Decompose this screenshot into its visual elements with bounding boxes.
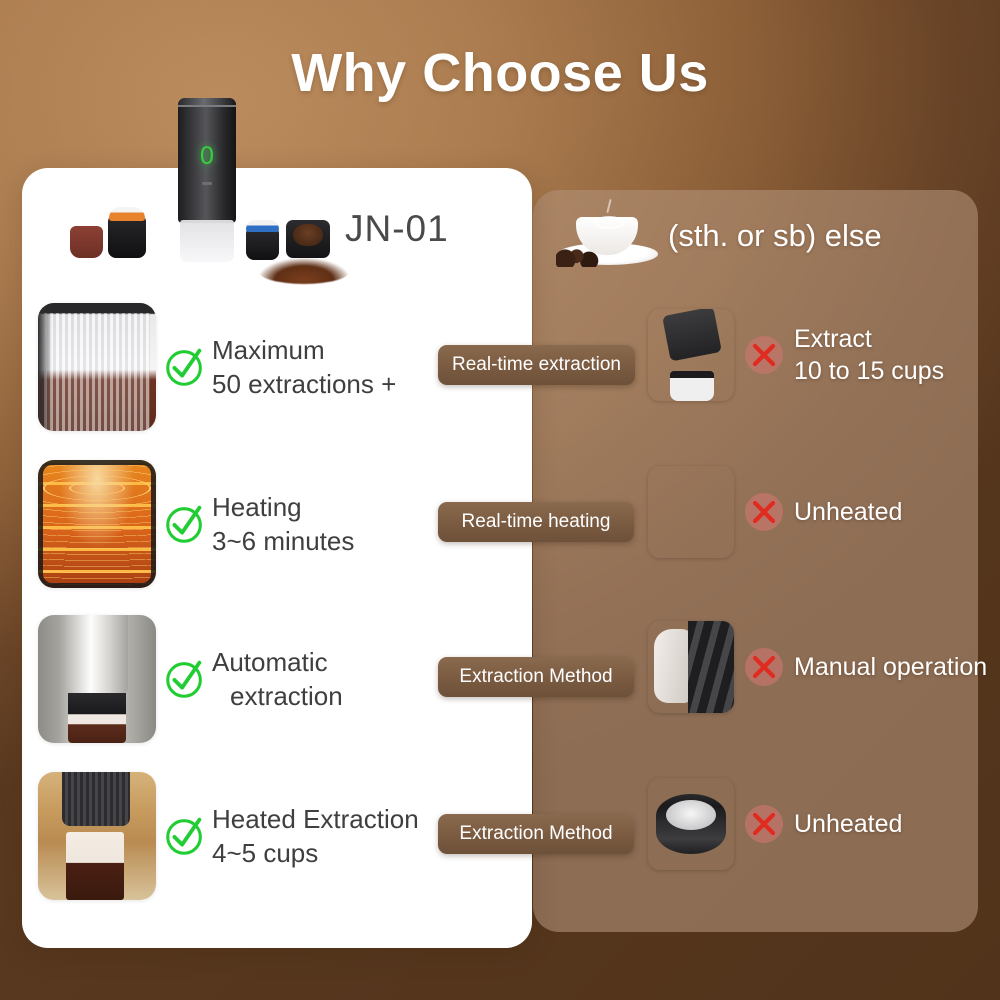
right-feature-text: Unheated: [794, 808, 902, 841]
right-feature-thumbnail: [648, 778, 734, 870]
left-feature-text: Heated Extraction 4~5 cups: [212, 802, 419, 871]
feature-badge: Extraction Method: [438, 814, 634, 854]
page-title: Why Choose Us: [0, 42, 1000, 104]
red-cross-icon: [744, 647, 784, 687]
left-feature-line2: extraction: [212, 679, 343, 713]
right-feature-line1: Unheated: [794, 810, 902, 838]
right-feature-text: Manual operation: [794, 651, 987, 684]
left-feature-text: Heating 3~6 minutes: [212, 490, 354, 559]
feature-badge: Extraction Method: [438, 657, 634, 697]
right-feature-thumbnail: [648, 309, 734, 401]
right-feature-thumbnail: [648, 621, 734, 713]
right-feature-thumbnail: [648, 466, 734, 558]
red-cross-icon: [744, 804, 784, 844]
left-feature-thumbnail: [38, 615, 156, 743]
left-feature-line2: 50 extractions +: [212, 367, 396, 401]
comparison-rows: Maximum 50 extractions + Real-time extra…: [0, 0, 1000, 1000]
left-feature-line1: Automatic: [212, 647, 328, 677]
left-feature-thumbnail: [38, 303, 156, 431]
green-check-icon: [162, 656, 208, 702]
left-feature-line1: Heated Extraction: [212, 804, 419, 834]
left-feature-thumbnail: [38, 772, 156, 900]
left-feature-thumbnail: [38, 460, 156, 588]
right-feature-cell: Extract 10 to 15 cups: [648, 309, 944, 401]
left-feature-line2: 4~5 cups: [212, 836, 419, 870]
right-feature-line1: Unheated: [794, 498, 902, 526]
right-feature-line2: 10 to 15 cups: [794, 355, 944, 388]
left-feature-line1: Maximum: [212, 335, 325, 365]
left-feature-line2: 3~6 minutes: [212, 524, 354, 558]
right-feature-cell: Manual operation: [648, 621, 987, 713]
green-check-icon: [162, 344, 208, 390]
right-feature-cell: Unheated: [648, 778, 902, 870]
left-feature-cell: Maximum 50 extractions +: [38, 303, 396, 431]
feature-badge: Real-time extraction: [438, 345, 635, 385]
red-cross-icon: [744, 335, 784, 375]
right-feature-text: Extract 10 to 15 cups: [794, 323, 944, 388]
left-feature-line1: Heating: [212, 492, 302, 522]
left-feature-text: Maximum 50 extractions +: [212, 333, 396, 402]
green-check-icon: [162, 501, 208, 547]
red-cross-icon: [744, 492, 784, 532]
left-feature-cell: Heated Extraction 4~5 cups: [38, 772, 419, 900]
left-feature-text: Automatic extraction: [212, 645, 343, 714]
right-feature-cell: Unheated: [648, 466, 902, 558]
green-check-icon: [162, 813, 208, 859]
right-feature-text: Unheated: [794, 496, 902, 529]
feature-badge: Real-time heating: [438, 502, 634, 542]
right-feature-line1: Manual operation: [794, 653, 987, 681]
comparison-poster: Why Choose Us 0 JN-01 (sth. or sb) else: [0, 0, 1000, 1000]
right-feature-line1: Extract: [794, 325, 872, 353]
left-feature-cell: Heating 3~6 minutes: [38, 460, 354, 588]
left-feature-cell: Automatic extraction: [38, 615, 343, 743]
